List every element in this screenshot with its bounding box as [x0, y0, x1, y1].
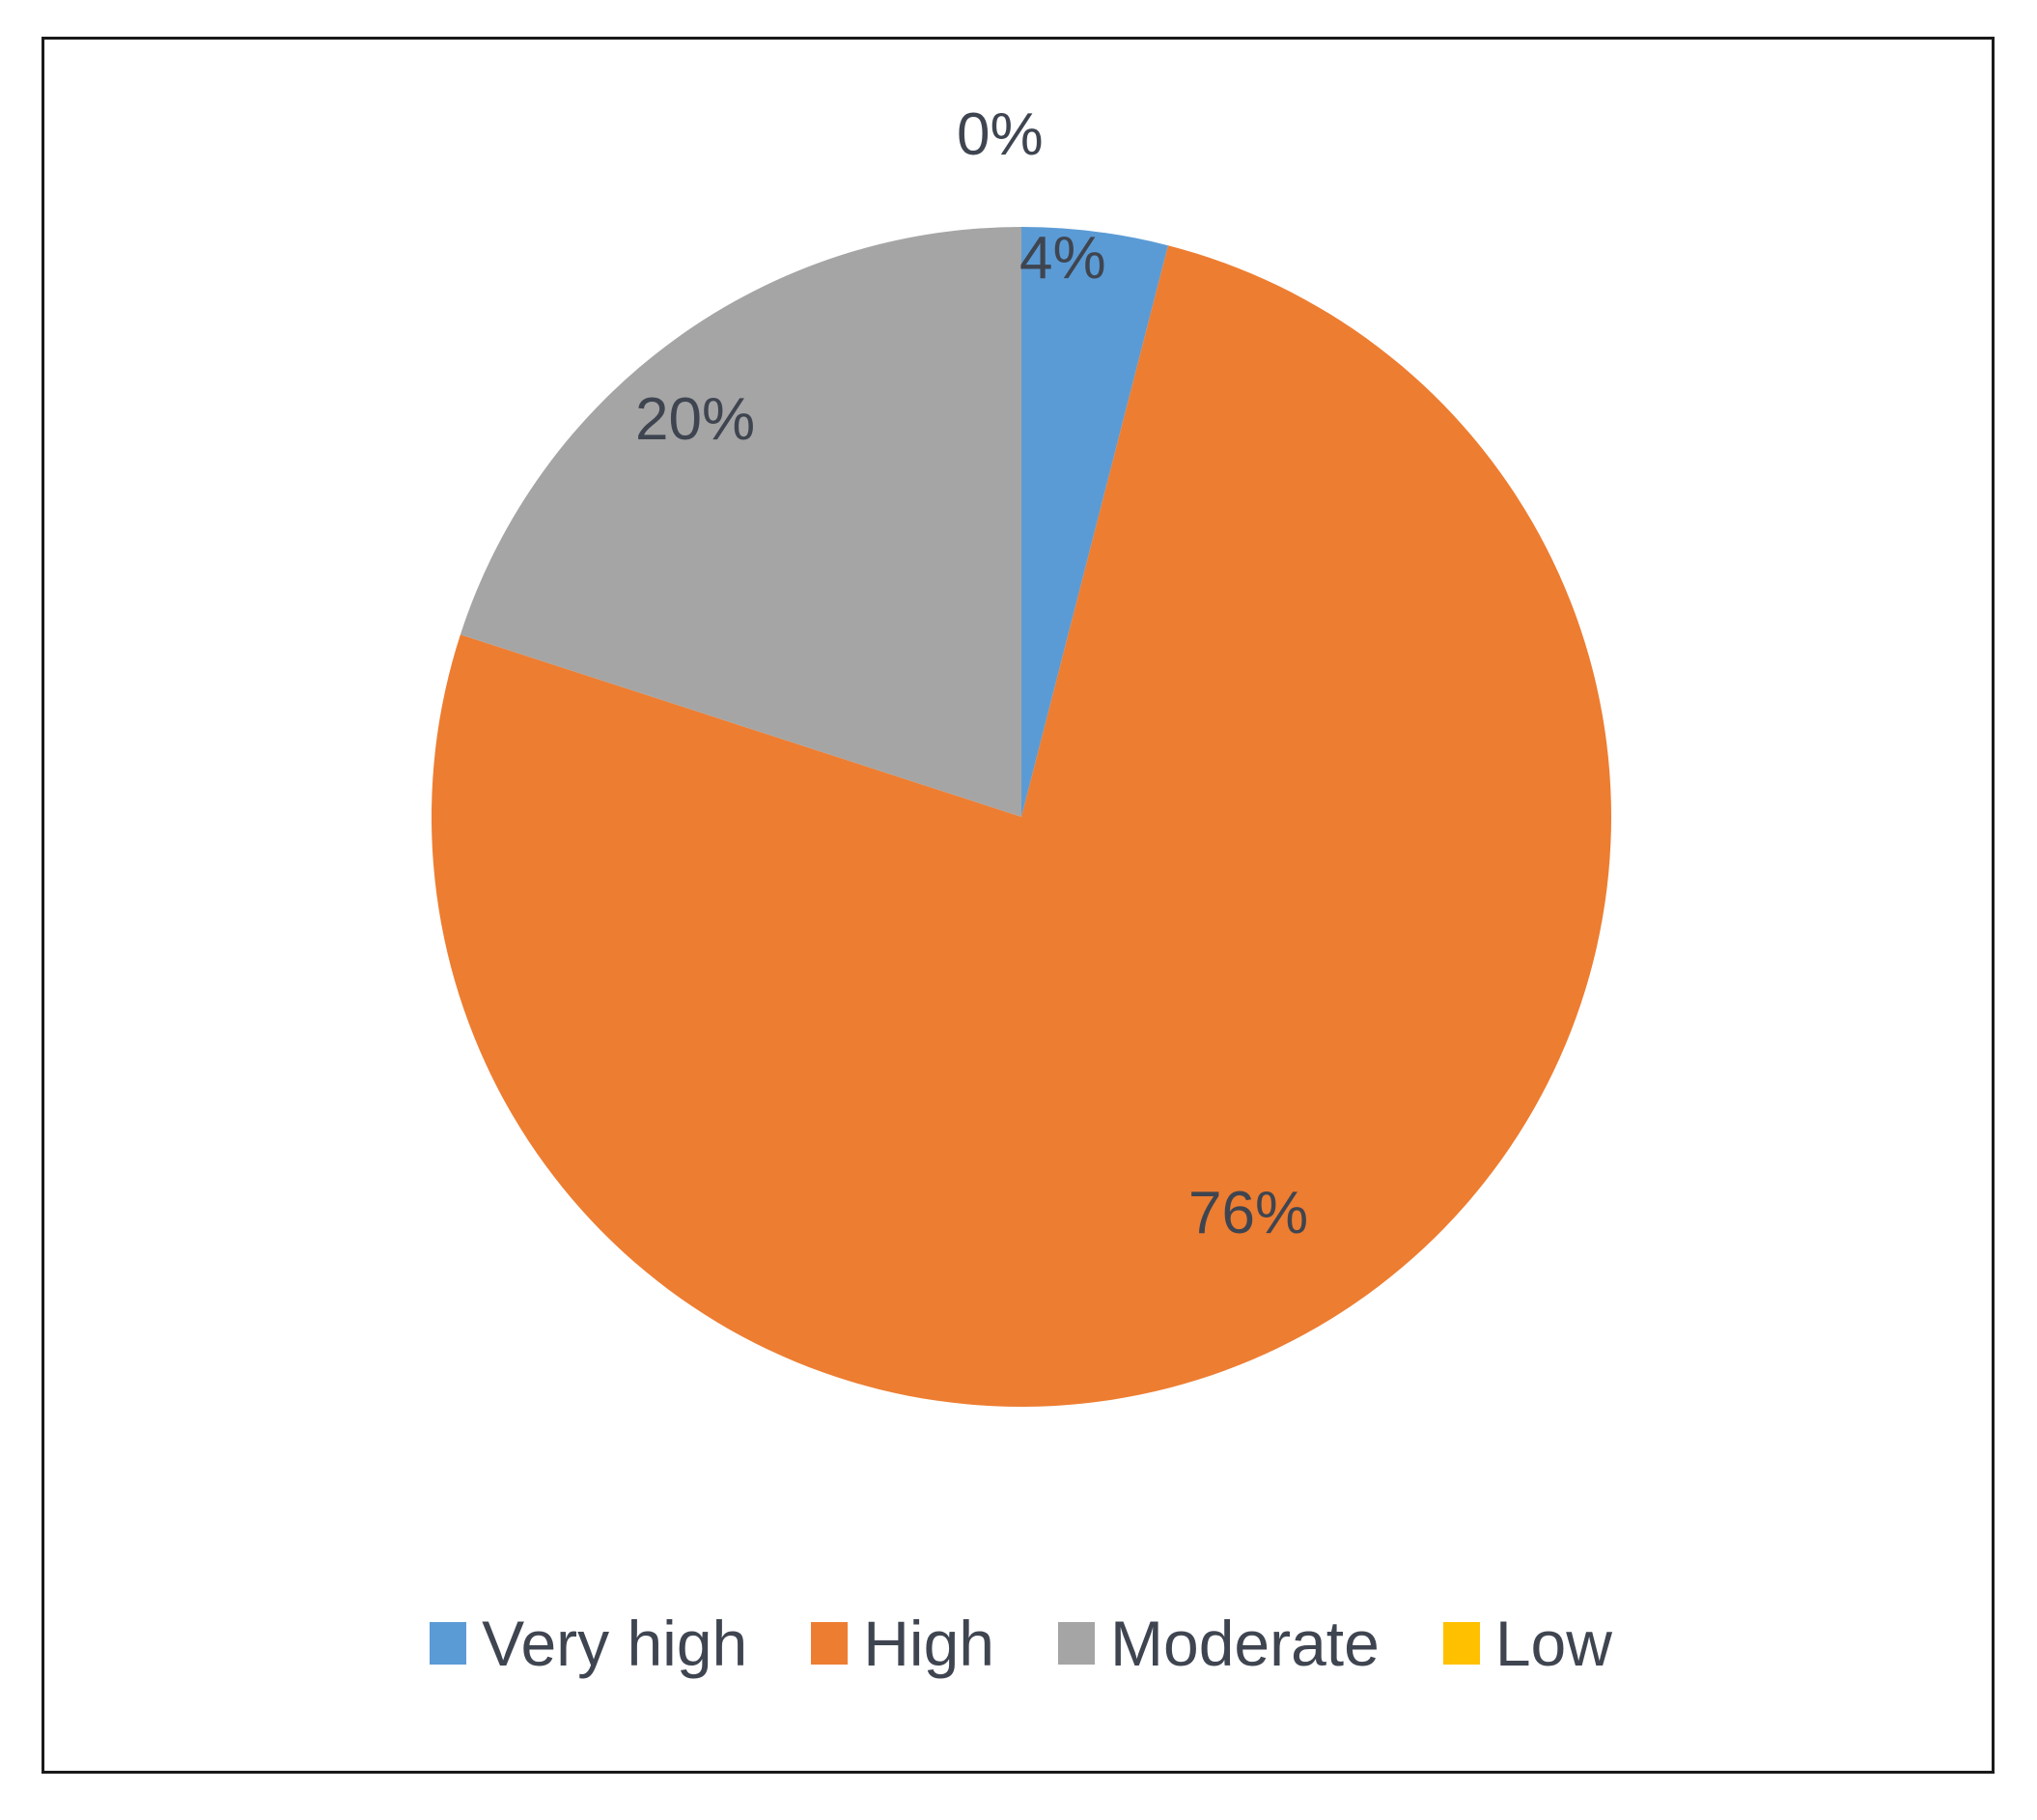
legend-item-moderate[interactable]: Moderate	[1058, 1611, 1380, 1675]
pie-label-very-high: 4%	[1019, 229, 1106, 289]
legend-swatch-high-icon	[811, 1622, 848, 1665]
legend-label-moderate: Moderate	[1110, 1611, 1380, 1675]
legend-swatch-moderate-icon	[1058, 1622, 1095, 1665]
legend-item-high[interactable]: High	[811, 1611, 994, 1675]
pie-chart-plot-area: 0% 4% 20% 76%	[44, 40, 1992, 1771]
pie-label-moderate: 20%	[635, 390, 755, 450]
legend-label-high: High	[863, 1611, 994, 1675]
legend-swatch-very-high-icon	[430, 1622, 466, 1665]
pie-label-high: 76%	[1188, 1184, 1308, 1244]
chart-legend: Very high High Moderate Low	[44, 1611, 1997, 1675]
pie-chart-svg	[44, 40, 1997, 1777]
legend-item-low[interactable]: Low	[1443, 1611, 1612, 1675]
pie-slice-group	[432, 227, 1611, 1407]
legend-label-very-high: Very high	[482, 1611, 747, 1675]
legend-swatch-low-icon	[1443, 1622, 1480, 1665]
legend-label-low: Low	[1495, 1611, 1612, 1675]
pie-label-low: 0%	[957, 105, 1044, 165]
legend-item-very-high[interactable]: Very high	[430, 1611, 747, 1675]
chart-frame: 0% 4% 20% 76% Very high High Moderate Lo…	[42, 37, 1995, 1774]
